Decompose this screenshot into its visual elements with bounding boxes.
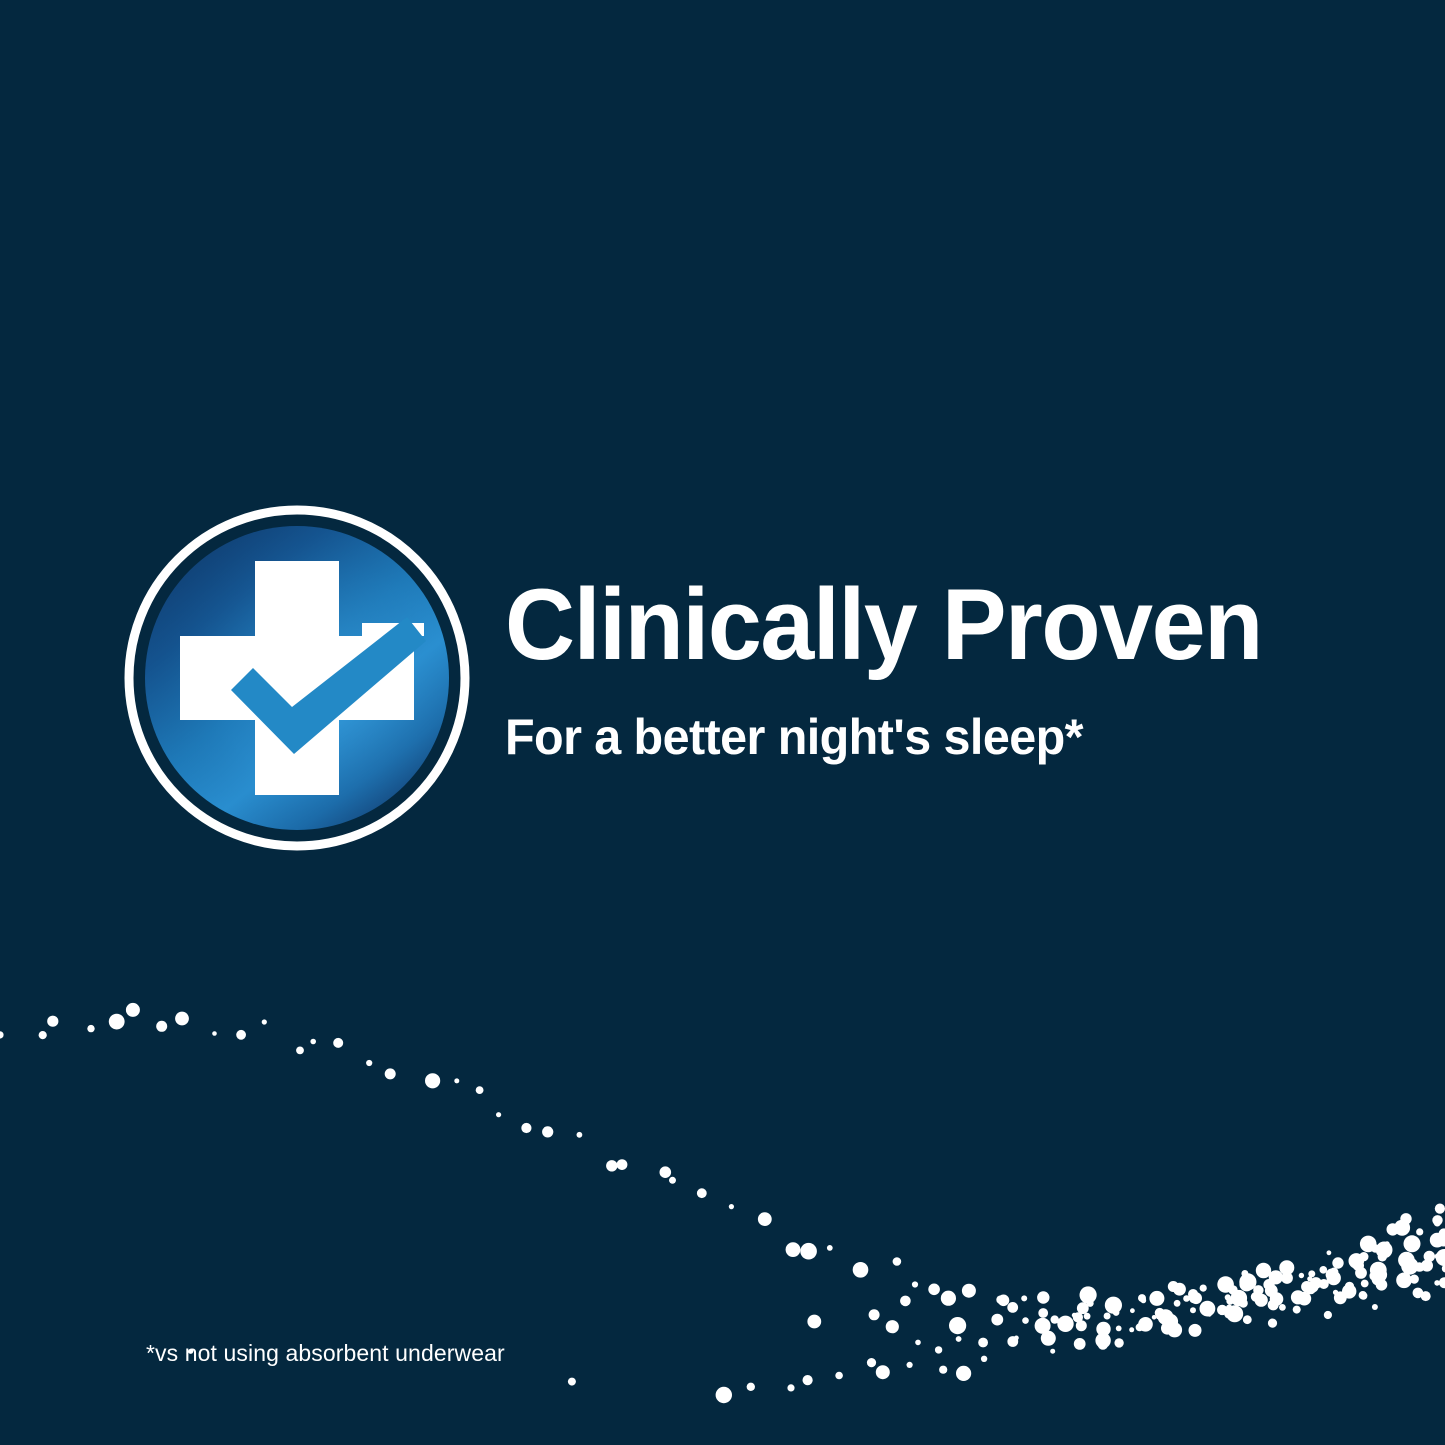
wave-dot <box>47 1016 58 1027</box>
wave-dot <box>869 1309 880 1320</box>
wave-dot <box>1329 1271 1337 1279</box>
wave-dot <box>1401 1258 1418 1275</box>
wave-dot <box>949 1317 966 1334</box>
wave-dot <box>867 1358 876 1367</box>
wave-dot <box>827 1245 833 1251</box>
wave-dot <box>1138 1317 1153 1332</box>
wave-dot <box>1421 1291 1431 1301</box>
wave-dot <box>1253 1285 1263 1295</box>
wave-dot <box>1430 1233 1445 1248</box>
wave-dot <box>1382 1242 1391 1251</box>
wave-dot <box>1326 1269 1338 1281</box>
wave-dot <box>1400 1213 1411 1224</box>
wave-dot <box>1226 1305 1232 1311</box>
wave-dot <box>1324 1311 1332 1319</box>
wave-dot <box>109 1014 125 1030</box>
wave-dot <box>1239 1277 1253 1291</box>
wave-dot <box>1435 1253 1441 1259</box>
wave-dot <box>1297 1292 1311 1306</box>
wave-dot <box>941 1291 956 1306</box>
wave-dot <box>1217 1305 1227 1315</box>
wave-dot <box>729 1204 734 1209</box>
wave-dot <box>310 1039 316 1045</box>
wave-dot <box>1072 1313 1077 1318</box>
wave-dot <box>1291 1290 1305 1304</box>
wave-dot <box>1371 1244 1379 1252</box>
wave-dot <box>521 1123 531 1133</box>
wave-dot <box>803 1375 813 1385</box>
wave-dot <box>1372 1273 1384 1285</box>
wave-dot <box>1410 1275 1419 1284</box>
wave-dot <box>1189 1295 1197 1303</box>
wave-dot <box>912 1281 918 1287</box>
wave-dot <box>907 1362 913 1368</box>
wave-dot <box>1188 1289 1198 1299</box>
wave-dot <box>1281 1272 1293 1284</box>
wave-dot <box>1355 1267 1367 1279</box>
page-subtitle: For a better night's sleep* <box>505 712 1359 762</box>
wave-dot <box>1267 1283 1272 1288</box>
wave-dot <box>1434 1220 1441 1227</box>
wave-dot <box>542 1126 553 1137</box>
wave-dot <box>617 1159 628 1170</box>
wave-dot <box>1095 1333 1110 1348</box>
wave-dot <box>1310 1277 1322 1289</box>
wave-dot <box>1050 1349 1055 1354</box>
wave-dot <box>1398 1252 1415 1269</box>
wave-dot <box>835 1372 843 1380</box>
wave-dot <box>1329 1268 1338 1277</box>
wave-dot <box>568 1378 576 1386</box>
wave-dot <box>893 1257 902 1266</box>
wave-dot <box>1439 1228 1445 1239</box>
wave-dot <box>1434 1280 1440 1286</box>
wave-dot <box>1084 1313 1091 1320</box>
wave-dot <box>1114 1338 1123 1347</box>
wave-dot <box>1096 1322 1110 1336</box>
wave-dot <box>1225 1294 1231 1300</box>
wave-dot <box>1396 1273 1412 1289</box>
wave-dot <box>1293 1306 1301 1314</box>
wave-dot <box>1353 1260 1364 1271</box>
wave-dot <box>0 1031 4 1038</box>
wave-dot <box>1014 1336 1019 1341</box>
wave-dot <box>87 1025 94 1032</box>
wave-dot <box>669 1177 676 1184</box>
wave-dot <box>1077 1302 1089 1314</box>
wave-dot <box>1200 1285 1207 1292</box>
wave-dot <box>1152 1315 1157 1320</box>
wave-dot <box>1308 1270 1315 1277</box>
wave-dot <box>476 1086 484 1094</box>
wave-dot <box>1041 1331 1056 1346</box>
wave-dot <box>1104 1313 1111 1320</box>
wave-dot <box>1345 1282 1354 1291</box>
wave-dot <box>998 1295 1010 1307</box>
wave-dot <box>1352 1257 1360 1265</box>
wave-dot <box>1301 1281 1312 1292</box>
wave-dot <box>1073 1312 1083 1322</box>
wave-dot <box>606 1160 617 1171</box>
wave-dot <box>1168 1281 1179 1292</box>
wave-dot <box>1319 1279 1329 1289</box>
wave-dot <box>1251 1292 1261 1302</box>
wave-dot <box>1155 1308 1165 1318</box>
wave-dot <box>1231 1290 1247 1306</box>
wave-dot <box>1007 1336 1018 1347</box>
wave-dot <box>1439 1277 1445 1288</box>
wave-dot <box>126 1003 140 1017</box>
wave-dot <box>747 1383 755 1391</box>
wave-dot <box>1190 1292 1202 1304</box>
wave-dot <box>366 1060 372 1066</box>
wave-dot <box>886 1320 899 1333</box>
wave-dot <box>1372 1304 1378 1310</box>
wave-dot <box>1035 1318 1051 1334</box>
wave-dot <box>1349 1253 1365 1269</box>
wave-dot <box>991 1314 1003 1326</box>
wave-dot <box>956 1366 971 1381</box>
wave-dot <box>939 1366 947 1374</box>
wave-dot <box>1415 1262 1425 1272</box>
wave-dot <box>1404 1258 1412 1266</box>
wave-dot <box>1224 1310 1233 1319</box>
wave-dot <box>1436 1249 1445 1266</box>
wave-dot <box>236 1030 246 1040</box>
wave-dot <box>697 1188 707 1198</box>
wave-dot <box>928 1284 940 1296</box>
wave-dot <box>786 1242 801 1257</box>
wave-dot <box>758 1212 772 1226</box>
wave-dot <box>1416 1228 1423 1235</box>
wave-dot <box>1200 1301 1216 1317</box>
wave-dot <box>1174 1300 1181 1307</box>
wave-dot <box>1161 1322 1174 1335</box>
wave-dot <box>1348 1291 1353 1296</box>
wave-dot <box>1105 1297 1122 1314</box>
wave-dot <box>1370 1262 1387 1279</box>
wave-dot <box>1387 1223 1399 1235</box>
wave-dot <box>1116 1326 1122 1332</box>
wave-dot <box>1207 1312 1212 1317</box>
wave-dot <box>1080 1286 1097 1303</box>
wave-dot <box>454 1078 459 1083</box>
wave-dot <box>1435 1204 1445 1214</box>
wave-dot <box>1306 1284 1316 1294</box>
wave-dot <box>1307 1276 1312 1281</box>
wave-dot <box>1021 1295 1027 1301</box>
wave-dot <box>1243 1315 1252 1324</box>
wave-dot <box>1369 1271 1379 1281</box>
wave-dot <box>1226 1305 1243 1322</box>
wave-dot <box>660 1166 672 1178</box>
wave-dot <box>1173 1283 1186 1296</box>
wave-dot <box>1438 1235 1445 1247</box>
wave-dot <box>900 1296 911 1307</box>
wave-dot <box>1359 1291 1367 1299</box>
wave-dot <box>1228 1285 1237 1294</box>
wave-dot <box>1167 1322 1182 1337</box>
wave-dot <box>1376 1242 1393 1259</box>
wave-dot <box>1189 1324 1202 1337</box>
wave-dot <box>1413 1288 1424 1299</box>
wave-dot <box>1268 1319 1277 1328</box>
wave-dot <box>1258 1297 1264 1303</box>
wave-dot <box>1394 1220 1410 1236</box>
wave-dot <box>1404 1275 1410 1281</box>
wave-dot <box>577 1132 583 1138</box>
wave-dot <box>1265 1284 1278 1297</box>
wave-dot <box>787 1384 794 1391</box>
wave-dot <box>175 1012 189 1026</box>
clinically-proven-badge <box>124 505 470 851</box>
wave-dot <box>716 1387 732 1403</box>
wave-dot <box>1270 1292 1284 1306</box>
footnote-disclaimer: *vs not using absorbent underwear <box>146 1340 505 1367</box>
wave-dot <box>425 1073 440 1088</box>
wave-dot <box>1416 1263 1424 1271</box>
wave-dot <box>1359 1292 1367 1300</box>
wave-dot <box>1037 1291 1049 1303</box>
wave-dot <box>1342 1284 1356 1298</box>
wave-dot <box>1226 1297 1234 1305</box>
wave-dot <box>962 1284 976 1298</box>
wave-dot <box>1156 1314 1161 1319</box>
wave-dot <box>1158 1309 1174 1325</box>
wave-dot <box>1333 1290 1338 1295</box>
wave-dot <box>1269 1270 1283 1284</box>
wave-dot <box>1327 1271 1341 1285</box>
wave-dot <box>1149 1291 1164 1306</box>
wave-dot <box>853 1262 869 1278</box>
wave-dot <box>1432 1215 1442 1225</box>
wave-dot <box>1163 1314 1178 1329</box>
wave-dot <box>1332 1257 1343 1268</box>
wave-dot <box>1217 1276 1234 1293</box>
wave-dot <box>1279 1304 1286 1311</box>
wave-dot <box>1378 1252 1387 1261</box>
wave-dot <box>1359 1252 1368 1261</box>
wave-dot <box>39 1031 47 1039</box>
wave-dot <box>296 1047 304 1055</box>
wave-dot <box>1239 1273 1256 1290</box>
wave-dot <box>1136 1323 1144 1331</box>
wave-dot <box>1074 1338 1086 1350</box>
wave-dot <box>1404 1235 1421 1252</box>
wave-dot <box>807 1315 821 1329</box>
wave-dot <box>1051 1315 1059 1323</box>
wave-dot <box>956 1336 962 1342</box>
promo-graphic-canvas: Clinically Proven For a better night's s… <box>0 0 1445 1445</box>
wave-dot <box>1263 1279 1274 1290</box>
wave-dot <box>1130 1308 1135 1313</box>
wave-dot <box>1183 1295 1190 1302</box>
wave-dot <box>1239 1299 1248 1308</box>
wave-dot <box>1112 1309 1117 1314</box>
wave-dot <box>1098 1339 1108 1349</box>
wave-dot <box>915 1340 921 1346</box>
wave-dot <box>935 1346 942 1353</box>
wave-dot <box>1129 1327 1134 1332</box>
wave-dot <box>978 1338 988 1348</box>
wave-dot <box>1076 1320 1087 1331</box>
wave-dot <box>1190 1307 1196 1313</box>
wave-dot <box>385 1068 396 1079</box>
page-title: Clinically Proven <box>505 575 1350 676</box>
wave-dot <box>1007 1302 1018 1313</box>
wave-dot <box>1057 1316 1073 1332</box>
text-block: Clinically Proven For a better night's s… <box>505 575 1385 762</box>
wave-dot <box>1268 1299 1279 1310</box>
wave-dot <box>1361 1280 1369 1288</box>
wave-dot <box>333 1038 343 1048</box>
wave-dot <box>496 1112 501 1117</box>
wave-dot <box>1022 1317 1029 1324</box>
wave-dot <box>1376 1279 1388 1291</box>
wave-dot <box>1424 1251 1435 1262</box>
wave-dot <box>1421 1260 1433 1272</box>
wave-dot <box>1256 1263 1271 1278</box>
wave-dot <box>981 1356 987 1362</box>
wave-dot <box>1241 1270 1248 1277</box>
wave-dot <box>156 1021 167 1032</box>
wave-dot <box>996 1295 1005 1304</box>
wave-dot <box>1087 1300 1094 1307</box>
wave-dot <box>800 1243 817 1260</box>
wave-dot <box>1038 1308 1048 1318</box>
wave-dot <box>1327 1250 1332 1255</box>
wave-dot <box>1307 1281 1318 1292</box>
wave-dot <box>1320 1266 1328 1274</box>
wave-dot <box>1299 1273 1304 1278</box>
wave-dot <box>262 1019 267 1024</box>
wave-dot <box>1372 1267 1387 1282</box>
wave-dot <box>1113 1309 1120 1316</box>
wave-dot <box>1334 1291 1347 1304</box>
wave-dot <box>1255 1294 1268 1307</box>
wave-dot <box>876 1365 890 1379</box>
wave-dot <box>1141 1298 1147 1304</box>
wave-dot <box>1385 1241 1390 1246</box>
wave-dot <box>1138 1294 1146 1302</box>
wave-dot <box>212 1031 217 1036</box>
wave-dot <box>1360 1236 1377 1253</box>
wave-dot <box>1279 1260 1294 1275</box>
